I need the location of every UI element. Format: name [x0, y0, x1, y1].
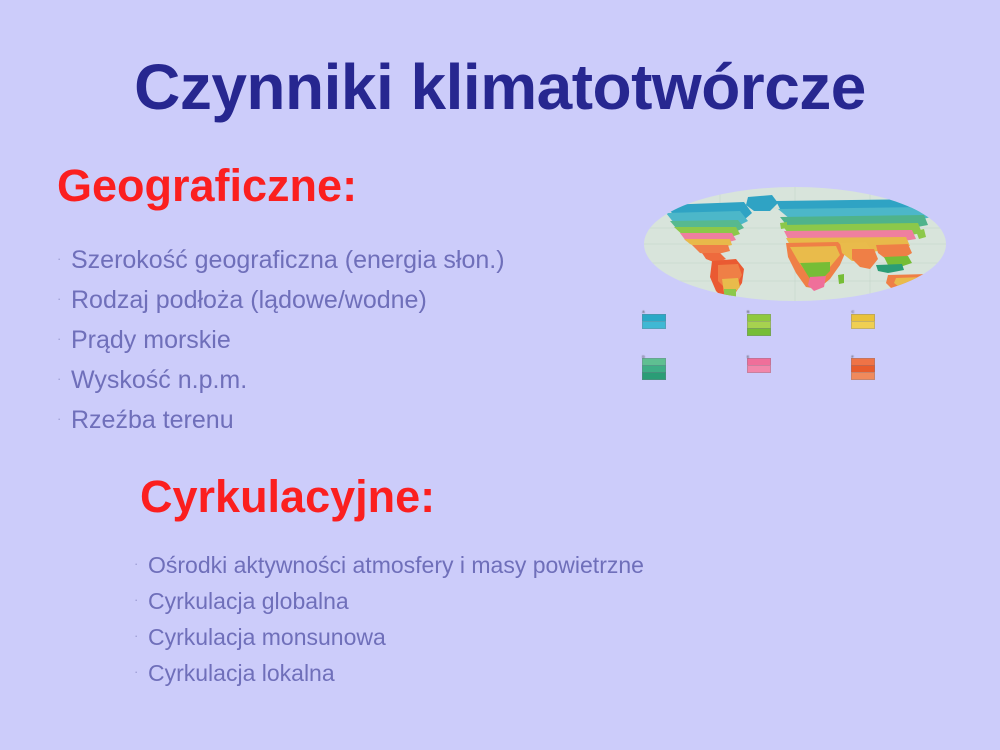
- list-item: · Cyrkulacja lokalna: [134, 657, 644, 693]
- list-item: · Szerokość geograficzna (energia słon.): [57, 242, 505, 282]
- list-item-label: Cyrkulacja globalna: [148, 585, 349, 618]
- list-item-label: Szerokość geograficzna (energia słon.): [71, 242, 505, 278]
- legend-group: C: [851, 309, 950, 349]
- list-item-label: Rodzaj podłoża (lądowe/wodne): [71, 282, 427, 318]
- bullet-marker-icon: ·: [134, 619, 148, 652]
- list-item: · Rodzaj podłoża (lądowe/wodne): [57, 282, 505, 322]
- list-item: · Prądy morskie: [57, 322, 505, 362]
- world-climate-map-figure: A B: [640, 183, 950, 393]
- list-item-label: Ośrodki aktywności atmosfery i masy powi…: [148, 549, 644, 582]
- slide-title: Czynniki klimatotwórcze: [0, 54, 1000, 121]
- legend-swatch: [747, 328, 771, 336]
- bullet-marker-icon: ·: [134, 547, 148, 580]
- bullet-marker-icon: ·: [134, 583, 148, 616]
- legend-group: A: [642, 309, 741, 349]
- bullet-marker-icon: ·: [57, 241, 71, 277]
- bullet-marker-icon: ·: [57, 281, 71, 317]
- legend-row: [851, 321, 950, 328]
- legend-swatch: [642, 372, 666, 380]
- legend-group-title: F: [851, 354, 950, 359]
- legend-row: [642, 373, 741, 380]
- legend-row: [747, 328, 846, 335]
- legend-swatch: [642, 321, 666, 329]
- map-legend: A B: [642, 309, 950, 393]
- list-item-label: Prądy morskie: [71, 322, 231, 358]
- list-item: · Rzeźba terenu: [57, 402, 505, 442]
- bullet-marker-icon: ·: [57, 361, 71, 397]
- legend-group: D: [642, 354, 741, 394]
- legend-group-title: D: [642, 354, 741, 359]
- legend-group-title: E: [747, 354, 846, 359]
- list-item: · Cyrkulacja monsunowa: [134, 621, 644, 657]
- legend-group: B: [747, 309, 846, 349]
- legend-row: [851, 373, 950, 380]
- section-heading-cyrkulacyjne: Cyrkulacyjne:: [140, 473, 435, 520]
- legend-swatch: [851, 321, 875, 329]
- legend-row: [747, 366, 846, 373]
- bullet-list-cyrkulacyjne: · Ośrodki aktywności atmosfery i masy po…: [134, 549, 644, 693]
- legend-group-title: B: [747, 309, 846, 314]
- list-item: · Cyrkulacja globalna: [134, 585, 644, 621]
- bullet-list-geograficzne: · Szerokość geograficzna (energia słon.)…: [57, 242, 505, 442]
- bullet-marker-icon: ·: [57, 321, 71, 357]
- legend-group: E: [747, 354, 846, 394]
- bullet-marker-icon: ·: [134, 655, 148, 688]
- legend-group-title: A: [642, 309, 741, 314]
- section-heading-geograficzne: Geograficzne:: [57, 162, 357, 209]
- legend-swatch: [851, 372, 875, 380]
- list-item: · Wyskość n.p.m.: [57, 362, 505, 402]
- list-item-label: Cyrkulacja monsunowa: [148, 621, 386, 654]
- legend-group: F: [851, 354, 950, 394]
- legend-group-title: C: [851, 309, 950, 314]
- legend-swatch: [747, 365, 771, 373]
- list-item-label: Cyrkulacja lokalna: [148, 657, 335, 690]
- slide-canvas: Czynniki klimatotwórcze Geograficzne: · …: [0, 0, 1000, 750]
- list-item: · Ośrodki aktywności atmosfery i masy po…: [134, 549, 644, 585]
- list-item-label: Rzeźba terenu: [71, 402, 234, 438]
- world-climate-map-image: [640, 183, 950, 305]
- bullet-marker-icon: ·: [57, 401, 71, 437]
- list-item-label: Wyskość n.p.m.: [71, 362, 247, 398]
- legend-row: [642, 321, 741, 328]
